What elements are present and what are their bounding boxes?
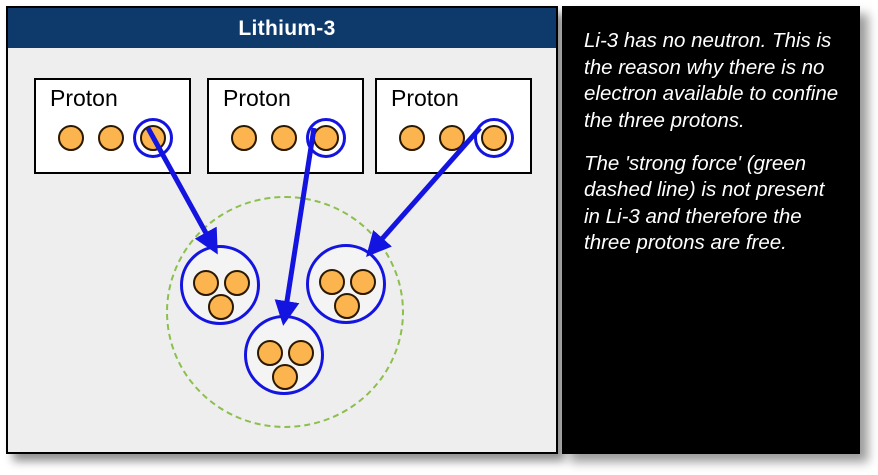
highlight-ring-icon: [306, 118, 346, 158]
explanation-panel: Li-3 has no neutron. This is the reason …: [562, 6, 860, 454]
proton-box-3-label: Proton: [391, 85, 459, 112]
page-title: Lithium-3: [238, 17, 335, 41]
highlight-ring-icon: [133, 118, 173, 158]
proton-dot: [334, 293, 360, 319]
proton-dot: [439, 125, 465, 151]
proton-cluster-bottom[interactable]: [244, 315, 324, 395]
proton-dot: [193, 270, 219, 296]
proton-dot: [272, 364, 298, 390]
proton-dot: [58, 125, 84, 151]
highlight-ring-icon: [474, 118, 514, 158]
proton-box-1[interactable]: Proton: [34, 78, 191, 174]
proton-dot: [257, 340, 283, 366]
proton-dot: [208, 294, 234, 320]
lithium-diagram-panel: Lithium-3 Proton Proton Proton: [6, 6, 558, 454]
diagram-screenshot: Lithium-3 Proton Proton Proton: [0, 0, 878, 475]
proton-dot: [271, 125, 297, 151]
note-paragraph-2: The 'strong force' (green dashed line) i…: [584, 151, 840, 258]
proton-dot: [224, 270, 250, 296]
proton-dot: [350, 269, 376, 295]
note-paragraph-1: Li-3 has no neutron. This is the reason …: [584, 28, 840, 135]
title-bar: Lithium-3: [16, 10, 558, 48]
proton-dot: [319, 269, 345, 295]
proton-dot: [288, 340, 314, 366]
proton-box-2-label: Proton: [223, 85, 291, 112]
proton-box-1-label: Proton: [50, 85, 118, 112]
proton-dot: [231, 125, 257, 151]
diagram-canvas: Proton Proton Proton: [8, 48, 558, 454]
proton-box-2[interactable]: Proton: [207, 78, 364, 174]
proton-cluster-right[interactable]: [306, 244, 386, 324]
proton-dot: [98, 125, 124, 151]
proton-cluster-left[interactable]: [180, 245, 260, 325]
proton-dot: [399, 125, 425, 151]
proton-box-3[interactable]: Proton: [375, 78, 532, 174]
